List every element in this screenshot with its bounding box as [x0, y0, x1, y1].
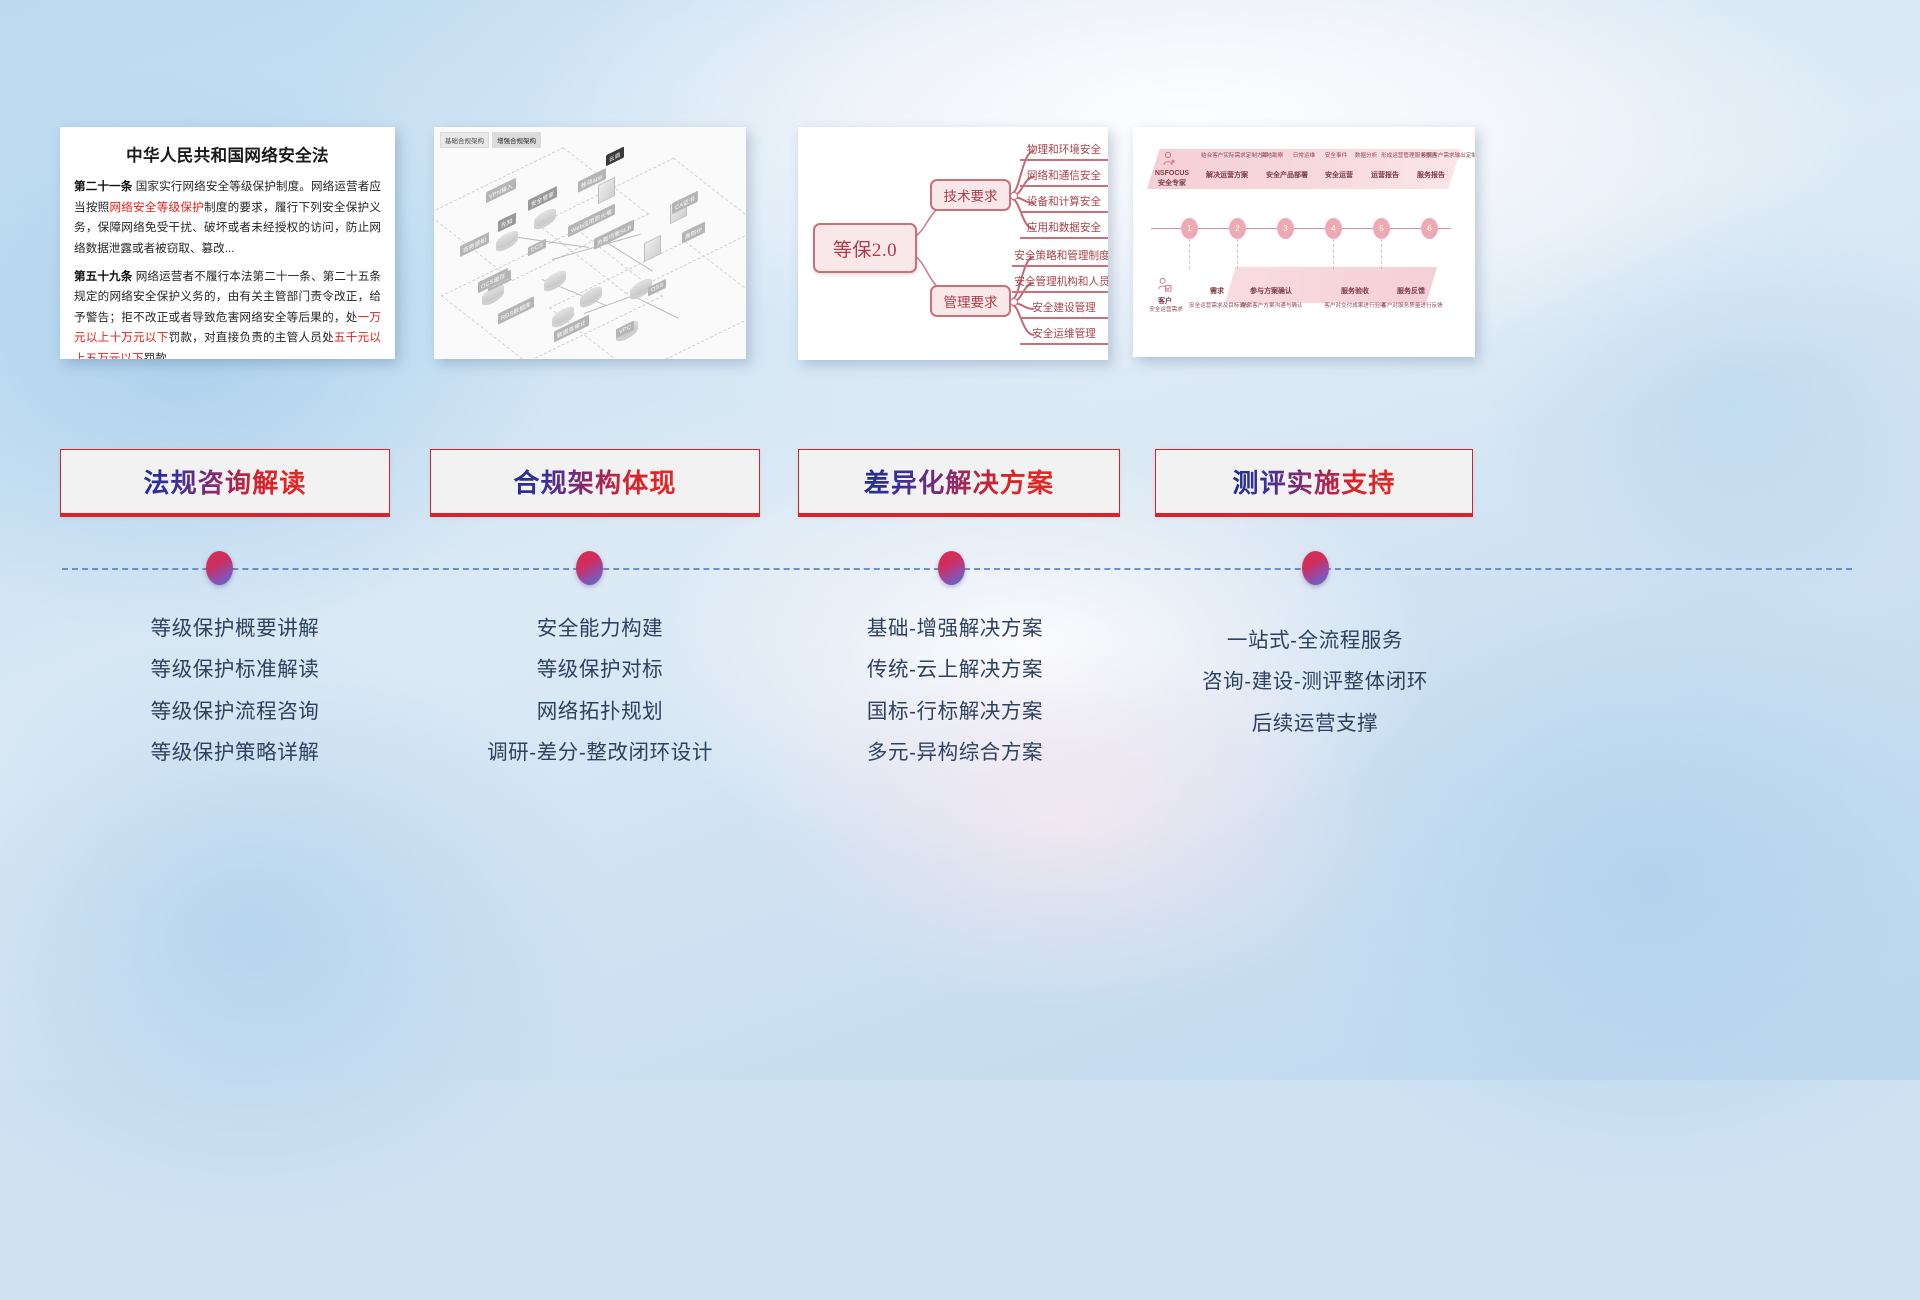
mindmap-leaf-mgmt-2: 安全管理机构和人员 [1012, 273, 1108, 293]
mindmap-leaf-mgmt-1: 安全策略和管理制度 [1012, 247, 1108, 267]
nsfocus-step-number-5: 5 [1373, 218, 1390, 239]
card-nsfocus-timeline: NSFOCUS 安全专家 结合客户实际需求定制方案 实地勘察 日常运维 安全事件… [1133, 127, 1475, 357]
nsfocus-top-caption-1: 结合客户实际需求定制方案 [1201, 153, 1253, 161]
timeline-node-3[interactable] [938, 551, 965, 585]
mindmap-branch-tech: 技术要求 [930, 179, 1011, 211]
nsfocus-bottom-caption-3: 客户对交付成果进行验收 [1323, 303, 1387, 311]
nsfocus-top-caption-7: 按照客户需求输出定制服务报告 [1421, 153, 1465, 161]
section-title-box-4[interactable]: 测评实施支持 [1155, 449, 1473, 517]
nsfocus-top-step-2: 安全产品部署 [1259, 171, 1315, 180]
law-article-21-highlight: 网络安全等级保护 [109, 201, 204, 214]
nsfocus-step-number-3: 3 [1277, 218, 1294, 239]
card-architecture-diagram: 基础合规架构 增强合规架构 云盾 安全管家 先知 态势感知 VPN接入 [434, 127, 746, 359]
feature-list-4: 一站式-全流程服务 咨询-建设-测评整体闭环 后续运营支撑 [1130, 620, 1500, 744]
list-item: 等级保护流程咨询 [50, 691, 420, 732]
nsfocus-top-step-4: 运营报告 [1365, 171, 1405, 180]
mindmap-leaf-tech-1: 物理和环境安全 [1020, 141, 1108, 161]
nsfocus-top-step-5: 服务报告 [1411, 171, 1451, 180]
list-item: 基础-增强解决方案 [770, 608, 1140, 649]
feature-list-3: 基础-增强解决方案 传统-云上解决方案 国标-行标解决方案 多元-异构综合方案 [770, 608, 1140, 774]
nsfocus-top-caption-5: 数据分析 [1351, 153, 1381, 161]
architecture-tab-basic[interactable]: 基础合规架构 [440, 132, 489, 148]
nsfocus-bottom-caption-1: 安全运营需求及目标确认 [1189, 303, 1245, 311]
law-article-59: 第五十九条 网络运营者不履行本法第二十一条、第二十五条规定的网络安全保护义务的，… [74, 267, 381, 360]
nsfocus-bottom-caption-4: 客户对服务质量进行反馈 [1381, 303, 1443, 311]
architecture-tabs: 基础合规架构 增强合规架构 [440, 132, 541, 148]
mindmap-leaf-mgmt-4: 安全运维管理 [1020, 325, 1108, 345]
nsfocus-brand: NSFOCUS [1149, 169, 1195, 178]
law-article-59-label: 第五十九条 [74, 270, 132, 283]
nsfocus-bottom-step-2: 参与方案确认 [1245, 287, 1297, 296]
list-item: 后续运营支撑 [1130, 703, 1500, 744]
mindmap-root-node: 等保2.0 [813, 223, 917, 273]
customer-person-icon [1157, 277, 1172, 294]
mindmap-leaf-tech-2: 网络和通信安全 [1020, 167, 1108, 187]
list-item: 一站式-全流程服务 [1130, 620, 1500, 661]
nsfocus-bottom-band [1225, 267, 1437, 303]
law-article-21: 第二十一条 国家实行网络安全等级保护制度。网络运营者应当按照网络安全等级保护制度… [74, 177, 381, 260]
law-article-59-text-b: 罚款，对直接负责的主管人员处 [169, 331, 334, 344]
nsfocus-step-number-2: 2 [1229, 218, 1246, 239]
section-title-1: 法规咨询解读 [143, 463, 306, 500]
law-title: 中华人民共和国网络安全法 [74, 142, 381, 166]
architecture-tab-enhanced[interactable]: 增强合规架构 [492, 132, 541, 148]
nsfocus-step-number-6: 6 [1421, 218, 1438, 239]
nsfocus-bottom-step-3: 服务验收 [1335, 287, 1375, 296]
list-item: 网络拓扑规划 [415, 691, 785, 732]
timeline-node-4[interactable] [1302, 551, 1329, 585]
nsfocus-customer-sub: 安全运营需求 [1143, 307, 1189, 315]
list-item: 等级保护策略详解 [50, 732, 420, 773]
nsfocus-top-caption-2: 实地勘察 [1257, 153, 1287, 161]
section-title-2: 合规架构体现 [513, 463, 676, 500]
timeline-node-1[interactable] [206, 551, 233, 585]
list-item: 等级保护对标 [415, 649, 785, 690]
nsfocus-step-number-4: 4 [1325, 218, 1342, 239]
nsfocus-drop-line-2 [1237, 239, 1238, 269]
list-item: 安全能力构建 [415, 608, 785, 649]
feature-list-1: 等级保护概要讲解 等级保护标准解读 等级保护流程咨询 等级保护策略详解 [50, 608, 420, 774]
nsfocus-top-caption-6: 形成运营管理服务报告 [1381, 153, 1421, 161]
section-title-box-1[interactable]: 法规咨询解读 [60, 449, 390, 517]
nsfocus-top-step-1: 解决运营方案 [1199, 171, 1255, 180]
nsfocus-brand-sub: 安全专家 [1149, 179, 1195, 188]
nsfocus-customer-label: 客户 [1149, 297, 1181, 306]
law-article-21-label: 第二十一条 [74, 180, 132, 193]
law-article-59-text-c: 罚款。 [144, 352, 179, 359]
list-item: 调研-差分-整改闭环设计 [415, 732, 785, 773]
section-title-box-2[interactable]: 合规架构体现 [430, 449, 760, 517]
timeline-node-2[interactable] [576, 551, 603, 585]
list-item: 国标-行标解决方案 [770, 691, 1140, 732]
list-item: 多元-异构综合方案 [770, 732, 1140, 773]
mindmap-branch-mgmt: 管理要求 [930, 285, 1011, 317]
nsfocus-top-caption-3: 日常运维 [1289, 153, 1319, 161]
mindmap-leaf-mgmt-3: 安全建设管理 [1020, 299, 1108, 319]
list-item: 等级保护概要讲解 [50, 608, 420, 649]
mindmap-leaf-tech-4: 应用和数据安全 [1020, 219, 1108, 239]
list-item: 咨询-建设-测评整体闭环 [1130, 661, 1500, 702]
mindmap-collapse-icon-tech[interactable] [1010, 192, 1018, 200]
list-item: 传统-云上解决方案 [770, 649, 1140, 690]
card-mindmap: 等保2.0 技术要求 物理和环境安全 网络和通信安全 设备和计算安全 应用和数据… [798, 127, 1108, 360]
mindmap-leaf-tech-3: 设备和计算安全 [1020, 193, 1108, 213]
expert-person-icon [1161, 151, 1177, 167]
section-title-3: 差异化解决方案 [864, 463, 1054, 500]
mindmap-collapse-icon-mgmt[interactable] [1010, 298, 1018, 306]
list-item: 等级保护标准解读 [50, 649, 420, 690]
nsfocus-drop-line-4 [1381, 239, 1382, 269]
nsfocus-drop-line-3 [1333, 239, 1334, 269]
section-title-box-3[interactable]: 差异化解决方案 [798, 449, 1120, 517]
nsfocus-drop-line-1 [1189, 239, 1190, 269]
feature-list-2: 安全能力构建 等级保护对标 网络拓扑规划 调研-差分-整改闭环设计 [415, 608, 785, 774]
nsfocus-top-step-3: 安全运营 [1319, 171, 1359, 180]
architecture-node-cloudshield: 云盾 [606, 147, 624, 167]
nsfocus-top-caption-4: 安全事件 [1321, 153, 1351, 161]
nsfocus-step-number-1: 1 [1181, 218, 1198, 239]
nsfocus-bottom-caption-2: 提供客户方案沟通与确认 [1241, 303, 1301, 311]
card-law-text: 中华人民共和国网络安全法 第二十一条 国家实行网络安全等级保护制度。网络运营者应… [60, 127, 395, 359]
nsfocus-bottom-step-4: 服务反馈 [1391, 287, 1431, 296]
section-title-4: 测评实施支持 [1232, 463, 1395, 500]
nsfocus-bottom-step-1: 需求 [1201, 287, 1233, 296]
